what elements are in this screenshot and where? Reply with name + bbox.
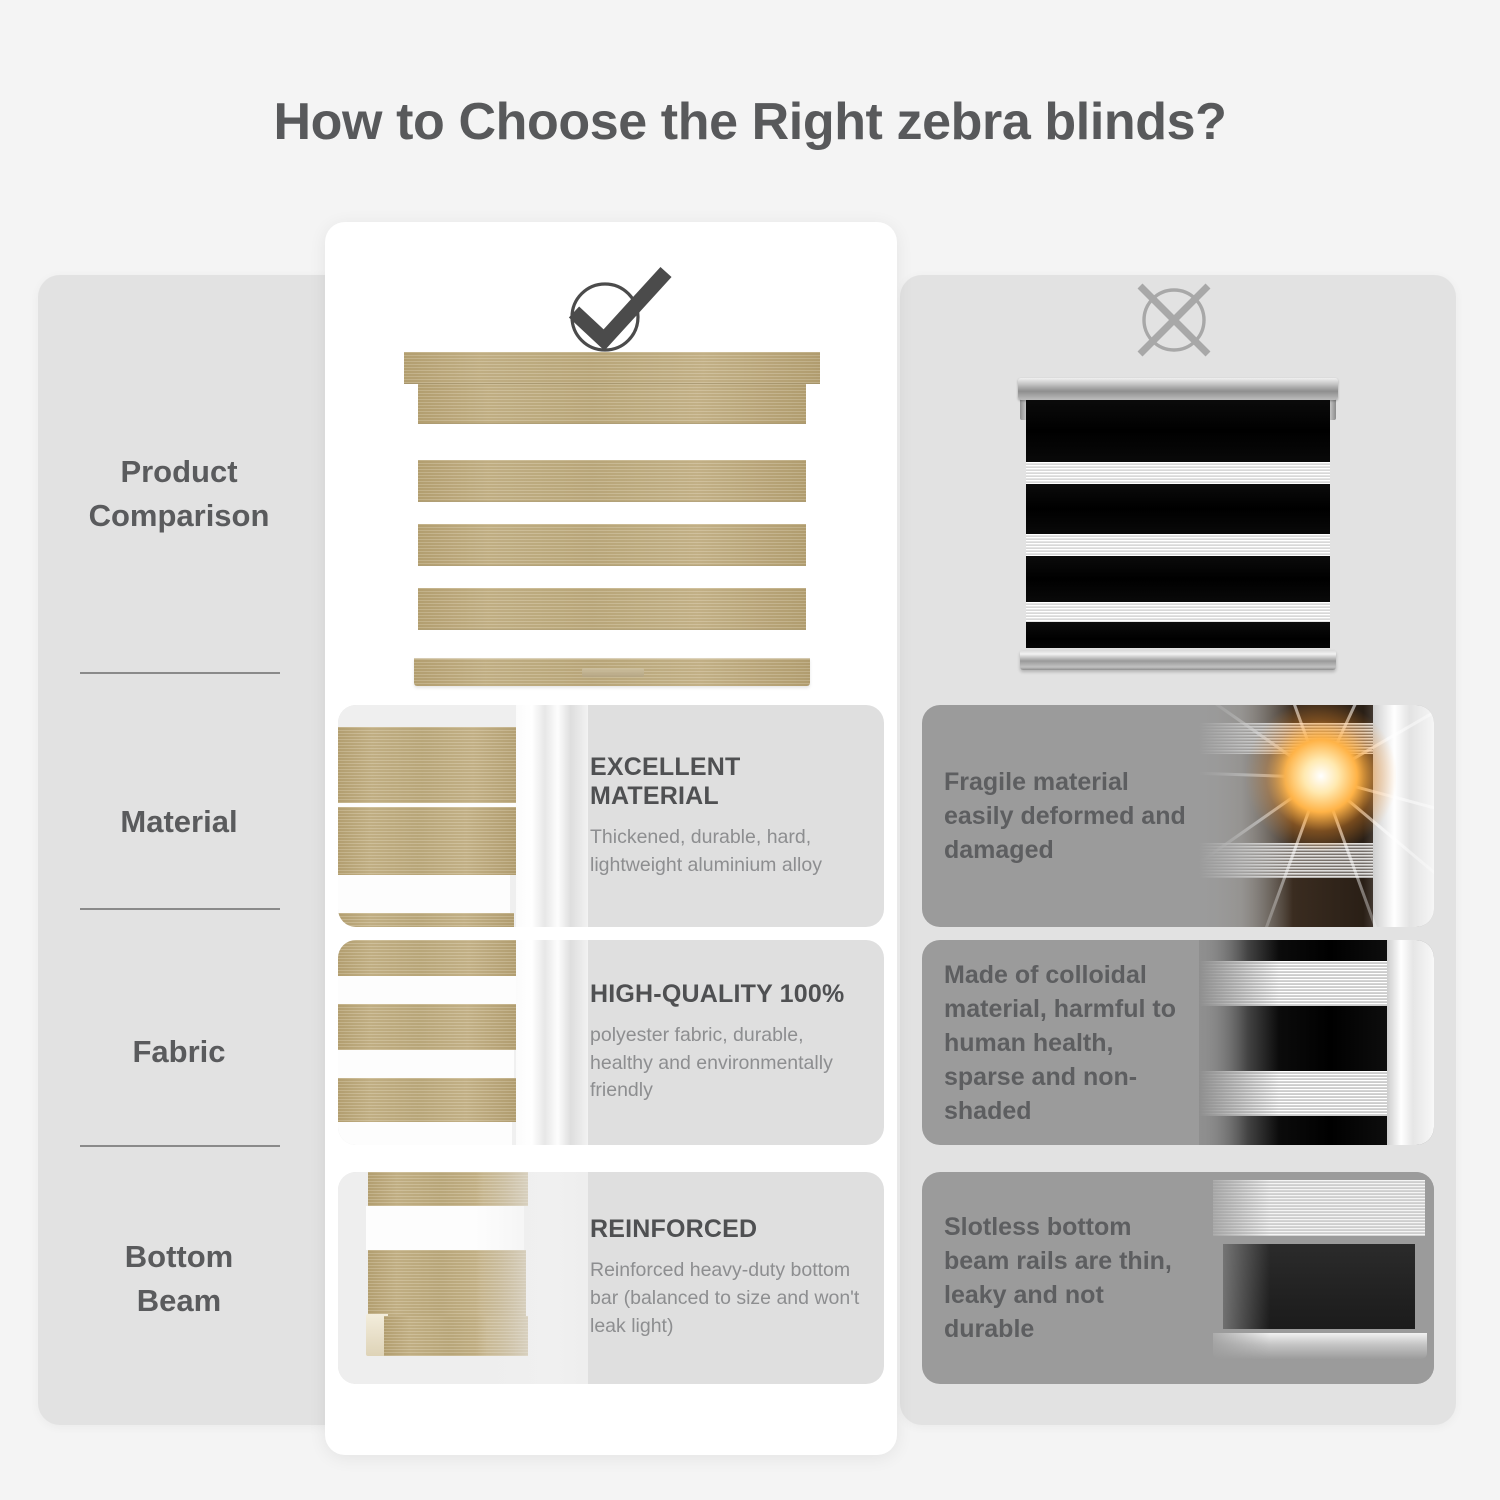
bad-feature-text-fabric: Made of colloidal material, harmful to h… [944,940,1194,1145]
sidebar-item-material: Material [48,800,310,844]
black-blind-sheer-band [1026,534,1330,556]
bad-feature-card-bottom-beam: Slotless bottom beam rails are thin, lea… [922,1172,1434,1384]
bad-feature-card-material: Fragile material easily deformed and dam… [922,705,1434,927]
black-blind-bottom-rail [1020,650,1336,670]
good-feature-text-material: EXCELLENT MATERIAL Thickened, durable, h… [590,705,884,927]
feature-body: polyester fabric, durable, healthy and e… [590,1022,870,1106]
tan-blind-slat [418,588,806,630]
tan-blind-headrail-lip [418,384,806,424]
sidebar-divider [80,1145,280,1147]
black-zebra-blind-image [1018,378,1338,678]
light-leaking-window-photo [1199,705,1434,927]
sidebar-item-product-comparison: Product Comparison [48,450,310,538]
tan-blind-bottom-bar-closeup-photo [338,1172,588,1384]
bad-feature-text-bottom-beam: Slotless bottom beam rails are thin, lea… [944,1172,1194,1384]
sidebar-divider [80,672,280,674]
good-feature-text-bottom-beam: REINFORCED Reinforced heavy-duty bottom … [590,1172,884,1384]
good-feature-card-fabric: HIGH-QUALITY 100% polyester fabric, dura… [338,940,884,1145]
black-blind-opaque-band [1026,556,1330,602]
tan-blind-bottom-tab [582,668,644,677]
sidebar-label-line: Beam [48,1279,310,1323]
cross-circle-icon [1122,280,1226,360]
bad-feature-card-fabric: Made of colloidal material, harmful to h… [922,940,1434,1145]
good-feature-card-bottom-beam: REINFORCED Reinforced heavy-duty bottom … [338,1172,884,1384]
sidebar-item-fabric: Fabric [48,1030,310,1074]
infographic-root: How to Choose the Right zebra blinds? Pr… [0,0,1500,1500]
feature-body: Reinforced heavy-duty bottom bar (balanc… [590,1257,870,1341]
black-blind-opaque-band [1026,484,1330,534]
page-title: How to Choose the Right zebra blinds? [0,92,1500,152]
good-feature-text-fabric: HIGH-QUALITY 100% polyester fabric, dura… [590,940,884,1145]
black-blind-sheer-band [1026,462,1330,484]
tan-zebra-blind-image [404,352,820,697]
feature-body: Slotless bottom beam rails are thin, lea… [944,1210,1194,1346]
bad-feature-text-material: Fragile material easily deformed and dam… [944,705,1194,927]
good-feature-card-material: EXCELLENT MATERIAL Thickened, durable, h… [338,705,884,927]
feature-heading: EXCELLENT MATERIAL [590,753,870,811]
tan-blind-slat [418,460,806,502]
black-blind-fabric [1026,400,1330,648]
black-blind-headrail [1018,378,1338,400]
feature-heading: REINFORCED [590,1215,870,1244]
sidebar-label-line: Product [48,450,310,494]
black-blind-opaque-band [1026,622,1330,648]
thin-bottom-rail-photo [1199,1172,1434,1384]
sidebar-label-line: Comparison [48,494,310,538]
feature-body: Fragile material easily deformed and dam… [944,765,1194,867]
sidebar-divider [80,908,280,910]
feature-heading: HIGH-QUALITY 100% [590,980,870,1009]
tan-blind-fabric-closeup-photo [338,940,588,1145]
sparse-fabric-photo [1199,940,1434,1145]
feature-body: Made of colloidal material, harmful to h… [944,958,1194,1128]
black-blind-opaque-band [1026,400,1330,462]
tan-blind-slat [418,524,806,566]
check-circle-icon [548,262,676,358]
tan-blind-headrail [404,352,820,384]
sidebar-item-bottom-beam: Bottom Beam [48,1235,310,1323]
black-blind-sheer-band [1026,602,1330,622]
tan-blind-material-closeup-photo [338,705,588,927]
feature-body: Thickened, durable, hard, lightweight al… [590,824,870,880]
sidebar-label-line: Bottom [48,1235,310,1279]
